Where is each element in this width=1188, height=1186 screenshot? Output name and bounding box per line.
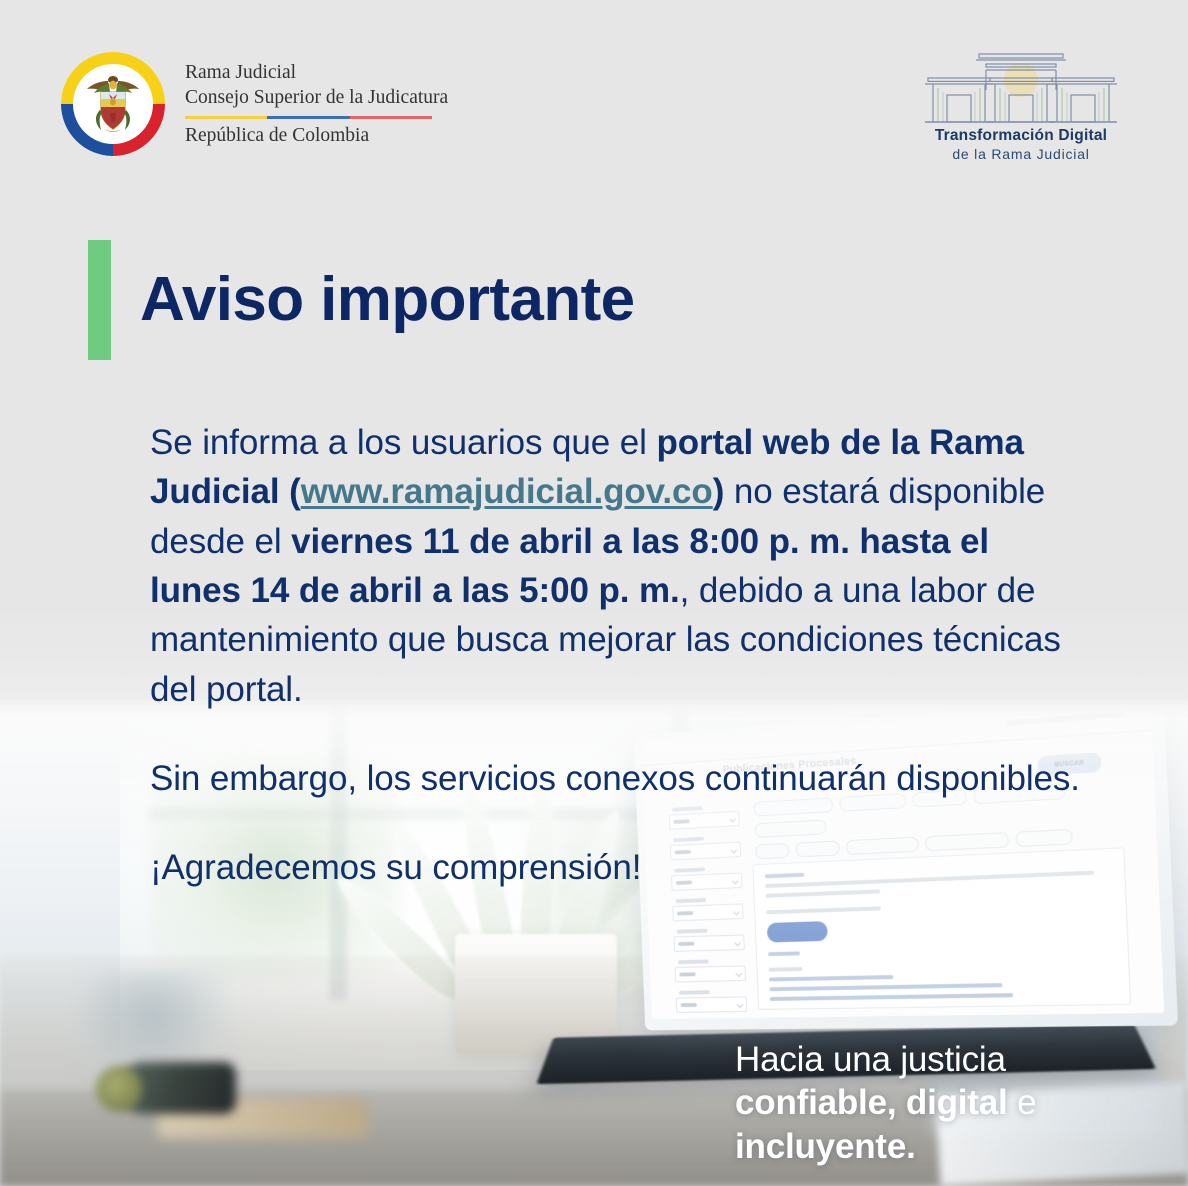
transformacion-digital-title: Transformación Digital	[916, 127, 1126, 145]
notice-paragraph-3: ¡Agradecemos su comprensión!	[150, 843, 1080, 892]
notice-p1-part-a: Se informa a los usuarios que el	[150, 423, 656, 462]
transformacion-digital-logo: Transformación Digital de la Rama Judici…	[916, 48, 1126, 162]
logo-line-republica: República de Colombia	[185, 125, 448, 147]
logo-line-rama-judicial: Rama Judicial	[185, 61, 448, 86]
rama-judicial-logo-text: Rama Judicial Consejo Superior de la Jud…	[185, 61, 448, 147]
tagline-part-d: incluyente.	[735, 1127, 916, 1166]
transformacion-digital-subtitle: de la Rama Judicial	[916, 146, 1126, 162]
title-block: Aviso importante	[88, 240, 635, 360]
tricolor-red	[350, 116, 432, 120]
colombia-tricolor-divider	[185, 116, 432, 120]
tagline-part-a: Hacia una justicia	[735, 1040, 1006, 1079]
title-accent-bar	[88, 240, 111, 360]
poster-canvas: Publicaciones Procesales BUSCAR	[0, 0, 1188, 1186]
rama-judicial-logo: Rama Judicial Consejo Superior de la Jud…	[57, 48, 448, 160]
notice-paragraph-2: Sin embargo, los servicios conexos conti…	[150, 754, 1080, 803]
coat-of-arms-icon	[83, 72, 143, 136]
tagline-part-c: e	[1008, 1083, 1037, 1122]
notice-paragraph-1: Se informa a los usuarios que el portal …	[150, 418, 1080, 714]
notice-body: Se informa a los usuarios que el portal …	[150, 418, 1080, 893]
footer-tagline: Hacia una justicia confiable, digital e …	[735, 1038, 1155, 1168]
header: Rama Judicial Consejo Superior de la Jud…	[0, 0, 1188, 185]
page-title: Aviso importante	[140, 269, 635, 331]
notice-p1-part-c: )	[713, 472, 725, 511]
tricolor-blue	[267, 116, 349, 120]
logo-line-consejo-superior: Consejo Superior de la Judicatura	[185, 86, 448, 111]
tricolor-yellow	[185, 116, 267, 120]
colombia-emblem	[57, 48, 169, 160]
courthouse-building-icon	[916, 48, 1126, 126]
ramajudicial-url-link[interactable]: www.ramajudicial.gov.co	[301, 472, 713, 511]
tagline-part-b: confiable, digital	[735, 1083, 1008, 1122]
